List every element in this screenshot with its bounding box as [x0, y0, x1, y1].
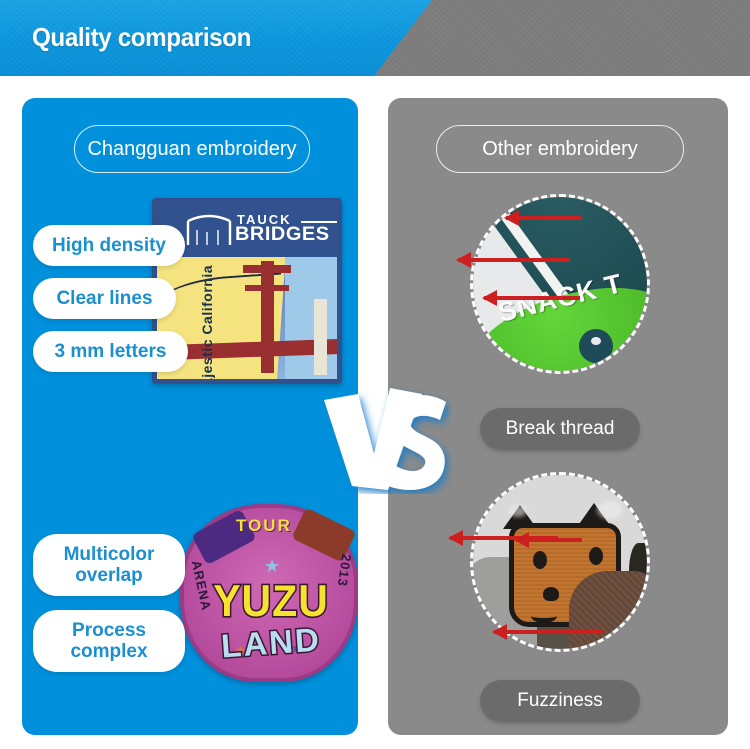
sample-brown-shape — [569, 571, 647, 649]
embroidery-patch-yuzu: TOUR ARENA 2013 ★ YUZU ★ ★ LAND — [172, 498, 358, 690]
sample-nose — [543, 587, 559, 601]
right-panel-heading: Other embroidery — [436, 125, 684, 173]
defect-sample-image-top: SNACK T — [473, 197, 647, 371]
patch-brand-main: BRIDGES — [235, 224, 330, 246]
badge-break-thread: Break thread — [480, 408, 640, 450]
bridge-tower — [261, 261, 274, 373]
patch-lightblue-field — [285, 257, 337, 384]
versus-icon — [318, 386, 452, 494]
bridge-logo-icon — [185, 213, 233, 247]
defect-arrow-top-1 — [506, 216, 582, 220]
yuzu-star-icon: ★ — [264, 556, 280, 577]
sample-fuzz-highlight-1 — [597, 501, 623, 519]
sample-fuzz-highlight-2 — [509, 505, 527, 517]
feature-pill-multicolor-overlap: Multicolor overlap — [33, 534, 185, 596]
bridge-lighthouse — [314, 299, 327, 375]
defect-sample-image-bottom — [473, 475, 647, 649]
defect-sample-break-thread: SNACK T — [470, 194, 650, 374]
feature-pill-3mm-letters: 3 mm letters — [33, 331, 188, 372]
sample-eye-left — [533, 551, 547, 569]
defect-arrow-top-2 — [458, 258, 570, 262]
defect-arrow-top-3 — [484, 296, 580, 300]
badge-fuzziness: Fuzziness — [480, 680, 640, 722]
page-header: Quality comparison — [0, 0, 750, 76]
versus-logo — [318, 386, 452, 494]
defect-arrow-bottom-2 — [516, 538, 582, 542]
feature-pill-process-complex: Process complex — [33, 610, 185, 672]
defect-arrow-bottom-3 — [494, 630, 604, 634]
bridge-tower-crossbeam-lower — [245, 285, 289, 291]
yuzu-tour-text: TOUR — [236, 516, 292, 536]
sample-eye-right — [589, 547, 603, 565]
patch-brand-rule — [301, 221, 342, 223]
patch-caption: Majestic California — [199, 265, 215, 384]
left-comparison-panel: Changguan embroidery TAUCK BRIDGES Majes… — [22, 98, 358, 735]
page-title: Quality comparison — [32, 22, 251, 53]
feature-pill-clear-lines: Clear lines — [33, 278, 176, 319]
sample-mouth — [531, 609, 557, 623]
patch-logo: TAUCK BRIDGES — [175, 211, 335, 255]
bridge-tower-crossbeam-upper — [243, 265, 291, 273]
sample-ball — [579, 329, 613, 363]
left-panel-heading: Changguan embroidery — [74, 125, 310, 173]
feature-pill-high-density: High density — [33, 225, 185, 266]
